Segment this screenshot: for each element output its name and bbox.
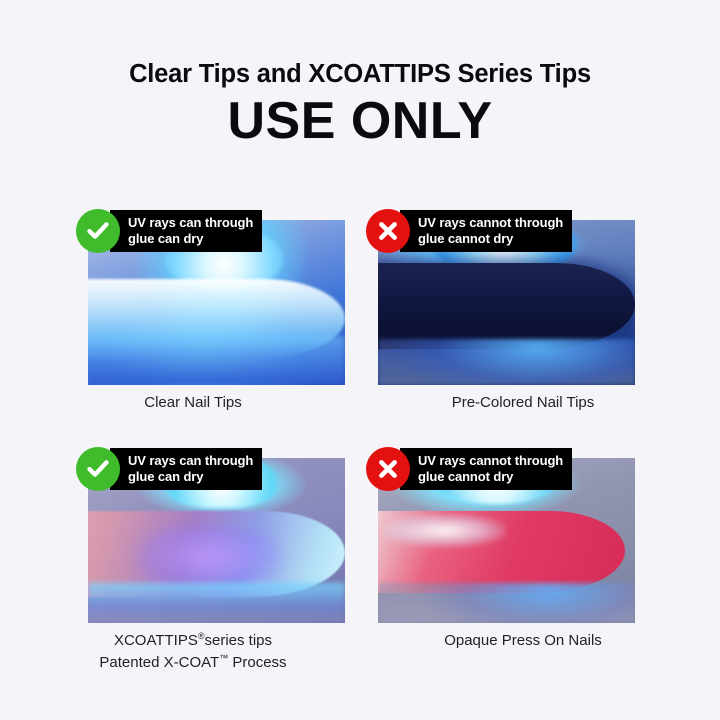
cell-pre-colored-nail-tips: UV rays cannot through glue cannot dry P…	[360, 196, 720, 434]
surface-glow	[378, 583, 635, 623]
badge-fail-2: UV rays cannot through glue cannot dry	[366, 448, 572, 490]
badge-label-line-2: glue cannot dry	[418, 231, 563, 247]
badge-label-line-2: glue can dry	[128, 469, 253, 485]
caption-line-1-tail: series tips	[205, 632, 273, 649]
tip-highlight	[383, 514, 506, 547]
caption-clear-nail-tips: Clear Nail Tips	[0, 392, 360, 414]
caption-pre-colored-nail-tips: Pre-Colored Nail Tips	[360, 392, 720, 414]
caption-line-1: XCOATTIPS®series tips	[26, 630, 360, 652]
badge-label-line-1: UV rays cannot through	[418, 215, 563, 231]
check-circle-icon	[76, 209, 120, 253]
caption-line-1: Pre-Colored Nail Tips	[360, 392, 686, 414]
badge-label-line-2: glue can dry	[128, 231, 253, 247]
caption-process-name: Patented X-COAT	[99, 654, 219, 671]
comparison-grid: UV rays can through glue can dry Clear N…	[0, 196, 720, 672]
nail-tip-shape	[378, 263, 635, 349]
caption-brand-name: XCOATTIPS	[114, 632, 198, 649]
badge-label-line-2: glue cannot dry	[418, 469, 563, 485]
badge-pass-2: UV rays can through glue can dry	[76, 448, 262, 490]
x-circle-icon	[366, 447, 410, 491]
caption-line-2: Patented X-COAT™ Process	[26, 652, 360, 674]
badge-pass-1: UV rays can through glue can dry	[76, 210, 262, 252]
cell-xcoattips-series-tips: UV rays can through glue can dry XCOATTI…	[0, 434, 360, 672]
badge-label-bar: UV rays can through glue can dry	[110, 210, 262, 252]
surface-glow	[378, 339, 635, 385]
check-circle-icon	[76, 447, 120, 491]
caption-xcoattips-series-tips: XCOATTIPS®series tips Patented X-COAT™ P…	[0, 630, 360, 674]
trademark-mark: ™	[219, 653, 228, 663]
cell-opaque-press-on-nails: UV rays cannot through glue cannot dry O…	[360, 434, 720, 672]
surface-glow	[88, 583, 345, 623]
page-title-line-1: Clear Tips and XCOATTIPS Series Tips	[0, 0, 720, 89]
page-header: Clear Tips and XCOATTIPS Series Tips USE…	[0, 0, 720, 149]
badge-fail-1: UV rays cannot through glue cannot dry	[366, 210, 572, 252]
badge-label-bar: UV rays can through glue can dry	[110, 448, 262, 490]
badge-label-line-1: UV rays cannot through	[418, 453, 563, 469]
caption-line-1: Clear Nail Tips	[26, 392, 360, 414]
grid-row-1: UV rays can through glue can dry Clear N…	[0, 196, 720, 434]
page-title-line-2: USE ONLY	[0, 89, 720, 149]
surface-glow	[88, 336, 345, 386]
cell-clear-nail-tips: UV rays can through glue can dry Clear N…	[0, 196, 360, 434]
badge-label-bar: UV rays cannot through glue cannot dry	[400, 210, 572, 252]
caption-line-1: Opaque Press On Nails	[360, 630, 686, 652]
caption-opaque-press-on-nails: Opaque Press On Nails	[360, 630, 720, 652]
badge-label-line-1: UV rays can through	[128, 215, 253, 231]
registered-mark: ®	[198, 631, 205, 641]
x-circle-icon	[366, 209, 410, 253]
caption-line-2-tail: Process	[228, 654, 286, 671]
badge-label-bar: UV rays cannot through glue cannot dry	[400, 448, 572, 490]
grid-row-2: UV rays can through glue can dry XCOATTI…	[0, 434, 720, 672]
badge-label-line-1: UV rays can through	[128, 453, 253, 469]
